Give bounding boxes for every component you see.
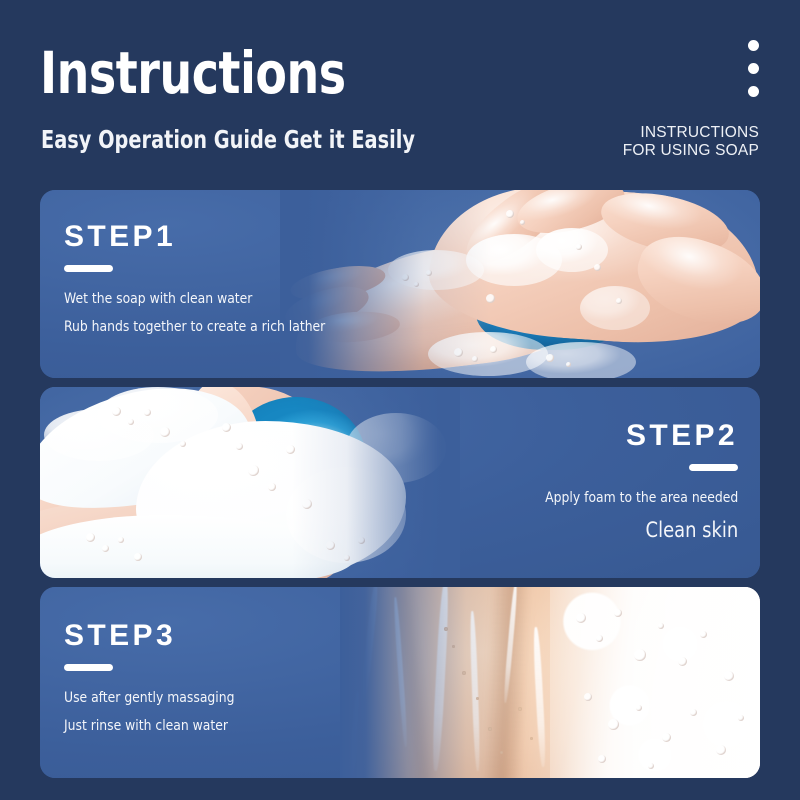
step-2-line-2: Clean skin	[545, 518, 738, 543]
step-panel-3: STEP3 Use after gently massaging Just ri…	[40, 587, 760, 778]
page-subtitle: Easy Operation Guide Get it Easily	[41, 126, 415, 154]
step-1-line-1: Wet the soap with clean water	[64, 291, 325, 308]
step-2-lines: Apply foam to the area needed Clean skin	[535, 490, 738, 543]
step-3-lines: Use after gently massaging Just rinse wi…	[64, 690, 243, 735]
step-2-label: STEP2	[535, 419, 738, 453]
step-3-label: STEP3	[64, 619, 243, 653]
dot-icon	[748, 86, 759, 97]
step-1-lines: Wet the soap with clean water Rub hands …	[64, 291, 339, 336]
step-3-line-1: Use after gently massaging	[64, 690, 234, 707]
page-title: Instructions	[40, 42, 346, 104]
step-1-text: STEP1 Wet the soap with clean water Rub …	[64, 220, 339, 336]
three-dots-decoration	[748, 40, 759, 97]
dot-icon	[748, 40, 759, 51]
header-kicker-line-2: FOR USING SOAP	[623, 142, 759, 160]
step-2-line-1: Apply foam to the area needed	[545, 490, 738, 507]
step-3-text: STEP3 Use after gently massaging Just ri…	[64, 619, 243, 735]
poster-header: Instructions Easy Operation Guide Get it…	[0, 0, 800, 178]
step-2-rule	[689, 464, 738, 471]
step-3-line-2: Just rinse with clean water	[64, 718, 234, 735]
header-kicker-line-1: INSTRUCTIONS	[623, 124, 759, 142]
photo-foam-covered-hand-with-round-soap	[40, 387, 460, 578]
step-1-label: STEP1	[64, 220, 339, 254]
header-kicker: INSTRUCTIONS FOR USING SOAP	[623, 124, 759, 160]
instructions-poster: Instructions Easy Operation Guide Get it…	[0, 0, 800, 800]
step-3-rule	[64, 664, 113, 671]
step-1-line-2: Rub hands together to create a rich lath…	[64, 319, 325, 336]
step-2-text: STEP2 Apply foam to the area needed Clea…	[535, 419, 738, 543]
photo-wet-skin-with-foam	[340, 587, 760, 778]
step-1-rule	[64, 265, 113, 272]
step-panel-2: STEP2 Apply foam to the area needed Clea…	[40, 387, 760, 578]
step-panel-1: STEP1 Wet the soap with clean water Rub …	[40, 190, 760, 378]
photo-hands-lathering-blue-soap-bar	[280, 190, 760, 378]
dot-icon	[748, 63, 759, 74]
